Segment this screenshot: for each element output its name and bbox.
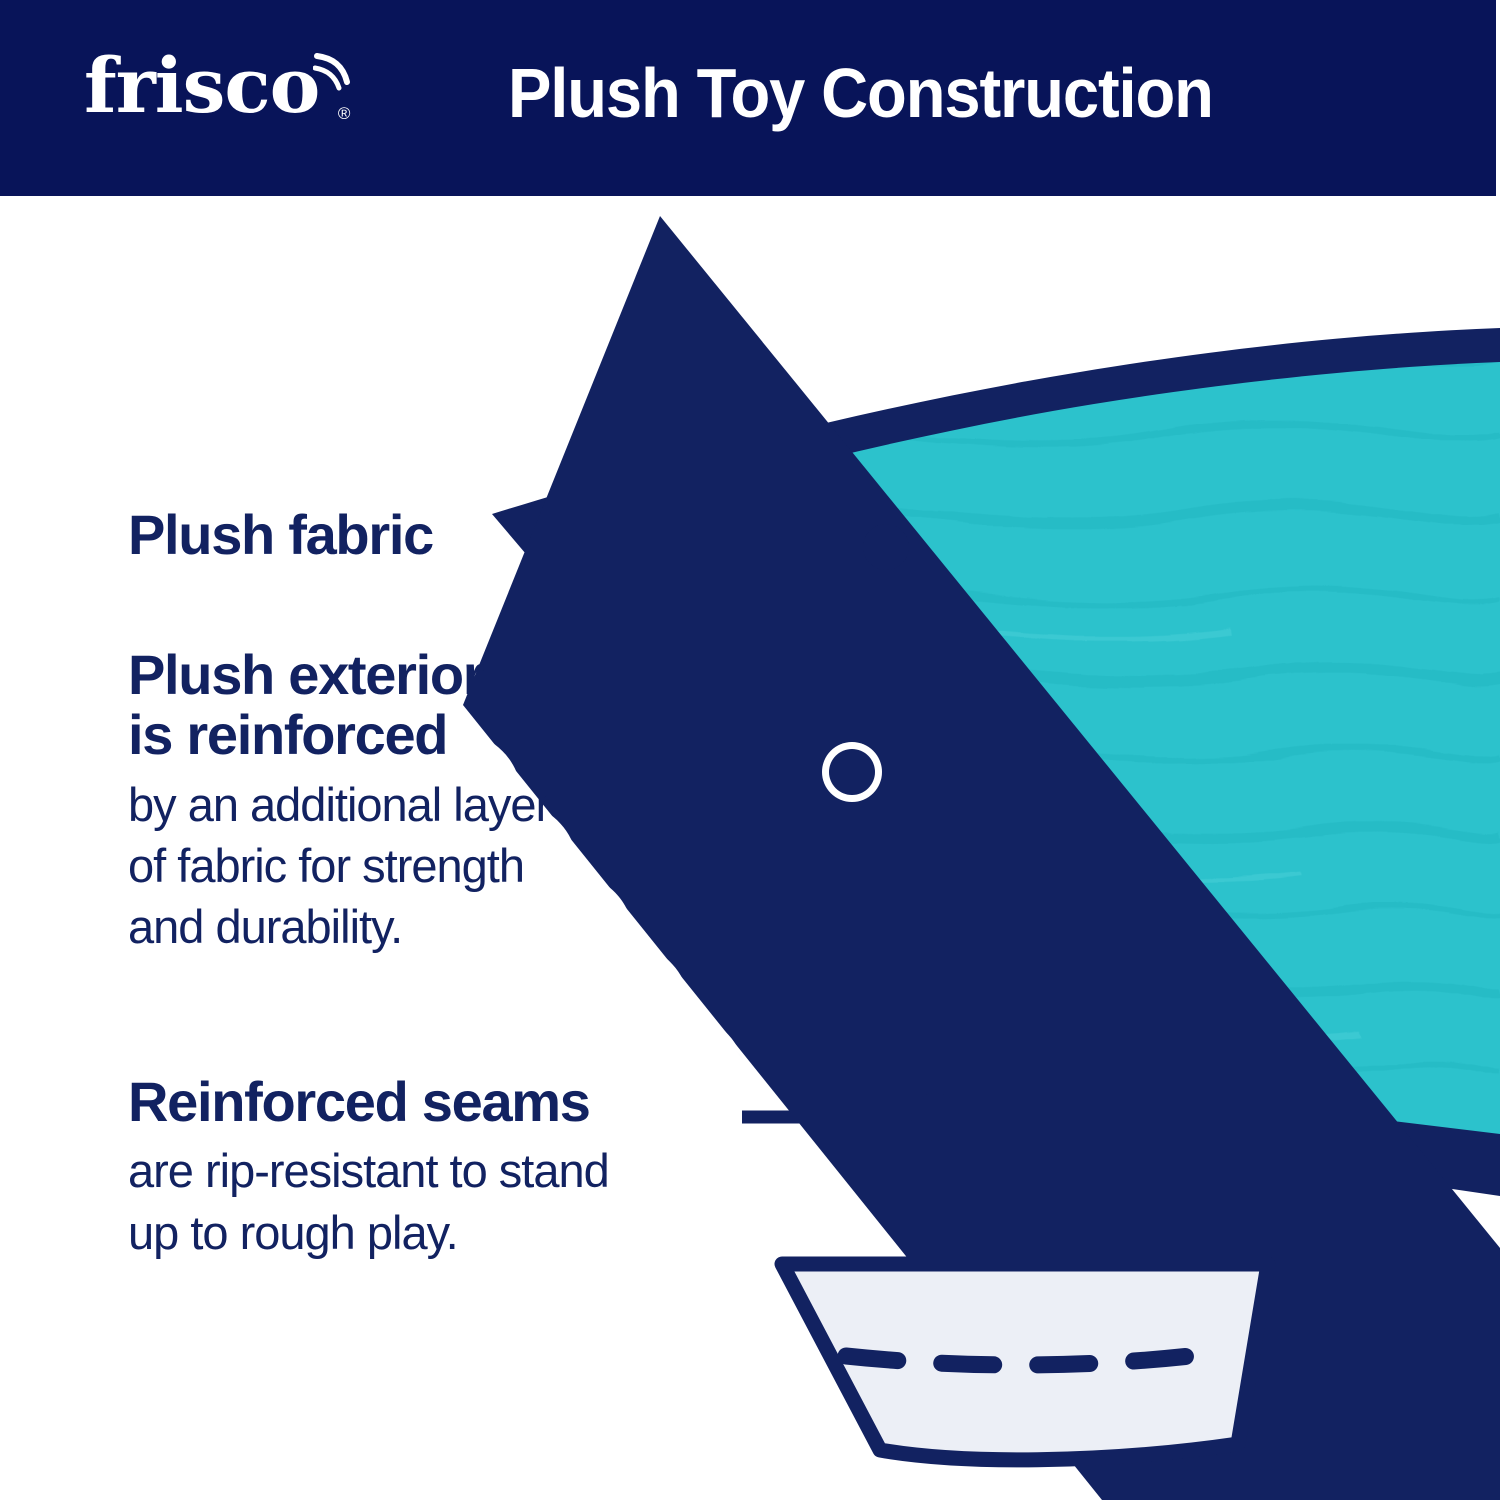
seam-flap-layer [782, 1264, 1268, 1460]
registered-trademark-mark: ® [338, 105, 350, 122]
mesh-cell [653, 1455, 739, 1500]
mesh-cell [600, 1167, 686, 1240]
callout-body-plush-exterior-line1: by an additional layer [128, 774, 550, 835]
mesh-cell [546, 1320, 632, 1393]
mesh-cell [492, 1474, 578, 1500]
mesh-cell [618, 1263, 704, 1336]
mesh-cell [456, 1282, 542, 1355]
callout-plush-exterior: Plush exterior is reinforced by an addit… [128, 645, 550, 957]
callout-body-reinforced-seams-line2: up to rough play. [128, 1202, 609, 1263]
mesh-cell [725, 1398, 811, 1471]
header-bar: frisco ® Plush Toy Construction [0, 0, 1496, 196]
leader-dot-plush-exterior [829, 749, 875, 795]
callout-plush-fabric: Plush fabric [128, 505, 433, 565]
callout-body-plush-exterior-line3: and durability. [128, 896, 550, 957]
page-title: Plush Toy Construction [508, 48, 1213, 139]
leader-dot-reinforced-seams [911, 1093, 959, 1141]
callout-heading-plush-exterior-line2: is reinforced [128, 705, 550, 765]
mesh-cell [743, 1494, 829, 1500]
mesh-cell [708, 1302, 794, 1375]
mesh-cell [904, 1475, 990, 1500]
callout-heading-reinforced-seams: Reinforced seams [128, 1072, 609, 1132]
brand-logo: frisco ® [84, 48, 319, 124]
callout-reinforced-seams: Reinforced seams are rip-resistant to st… [128, 1072, 609, 1263]
mesh-cell [564, 1416, 650, 1489]
brand-logo-text: frisco [84, 41, 319, 130]
mesh-cell [690, 1206, 776, 1279]
mesh-cell [565, 975, 651, 1048]
callout-heading-plush-fabric: Plush fabric [128, 505, 433, 565]
callout-body-plush-exterior-line2: of fabric for strength [128, 835, 550, 896]
callout-body-reinforced-seams-line1: are rip-resistant to stand [128, 1140, 609, 1201]
callout-heading-plush-exterior-line1: Plush exterior [128, 645, 550, 705]
mesh-cell [636, 1359, 722, 1432]
brand-swoosh-icon [313, 52, 353, 96]
leader-dot-plush-fabric [863, 524, 909, 570]
